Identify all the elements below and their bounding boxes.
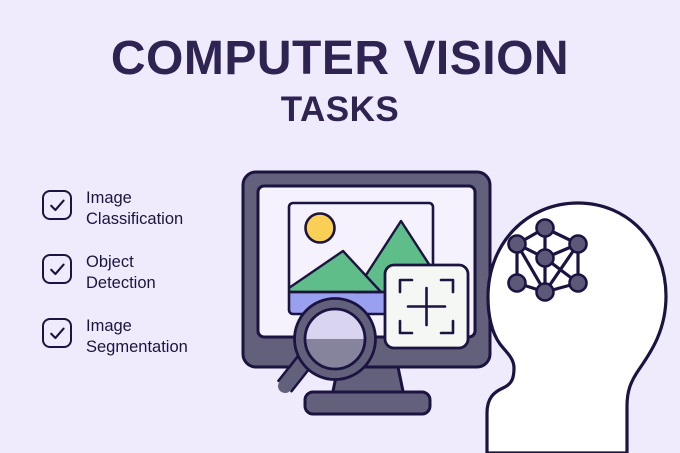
computer-vision-illustration (0, 0, 680, 453)
neural-node-center (537, 250, 554, 267)
neural-node-left-upper (509, 236, 526, 253)
poster-canvas: COMPUTER VISION TASKS Image Classificati… (0, 0, 680, 453)
monitor-base (305, 392, 430, 414)
object-detection-focus-icon (385, 265, 468, 348)
neural-node-right-lower (570, 275, 587, 292)
neural-node-right-upper (570, 236, 587, 253)
neural-node-left-lower (509, 275, 526, 292)
head-profile-icon (487, 203, 666, 453)
neural-node-top (537, 220, 554, 237)
sun-icon (306, 214, 335, 243)
neural-node-bottom (537, 284, 554, 301)
